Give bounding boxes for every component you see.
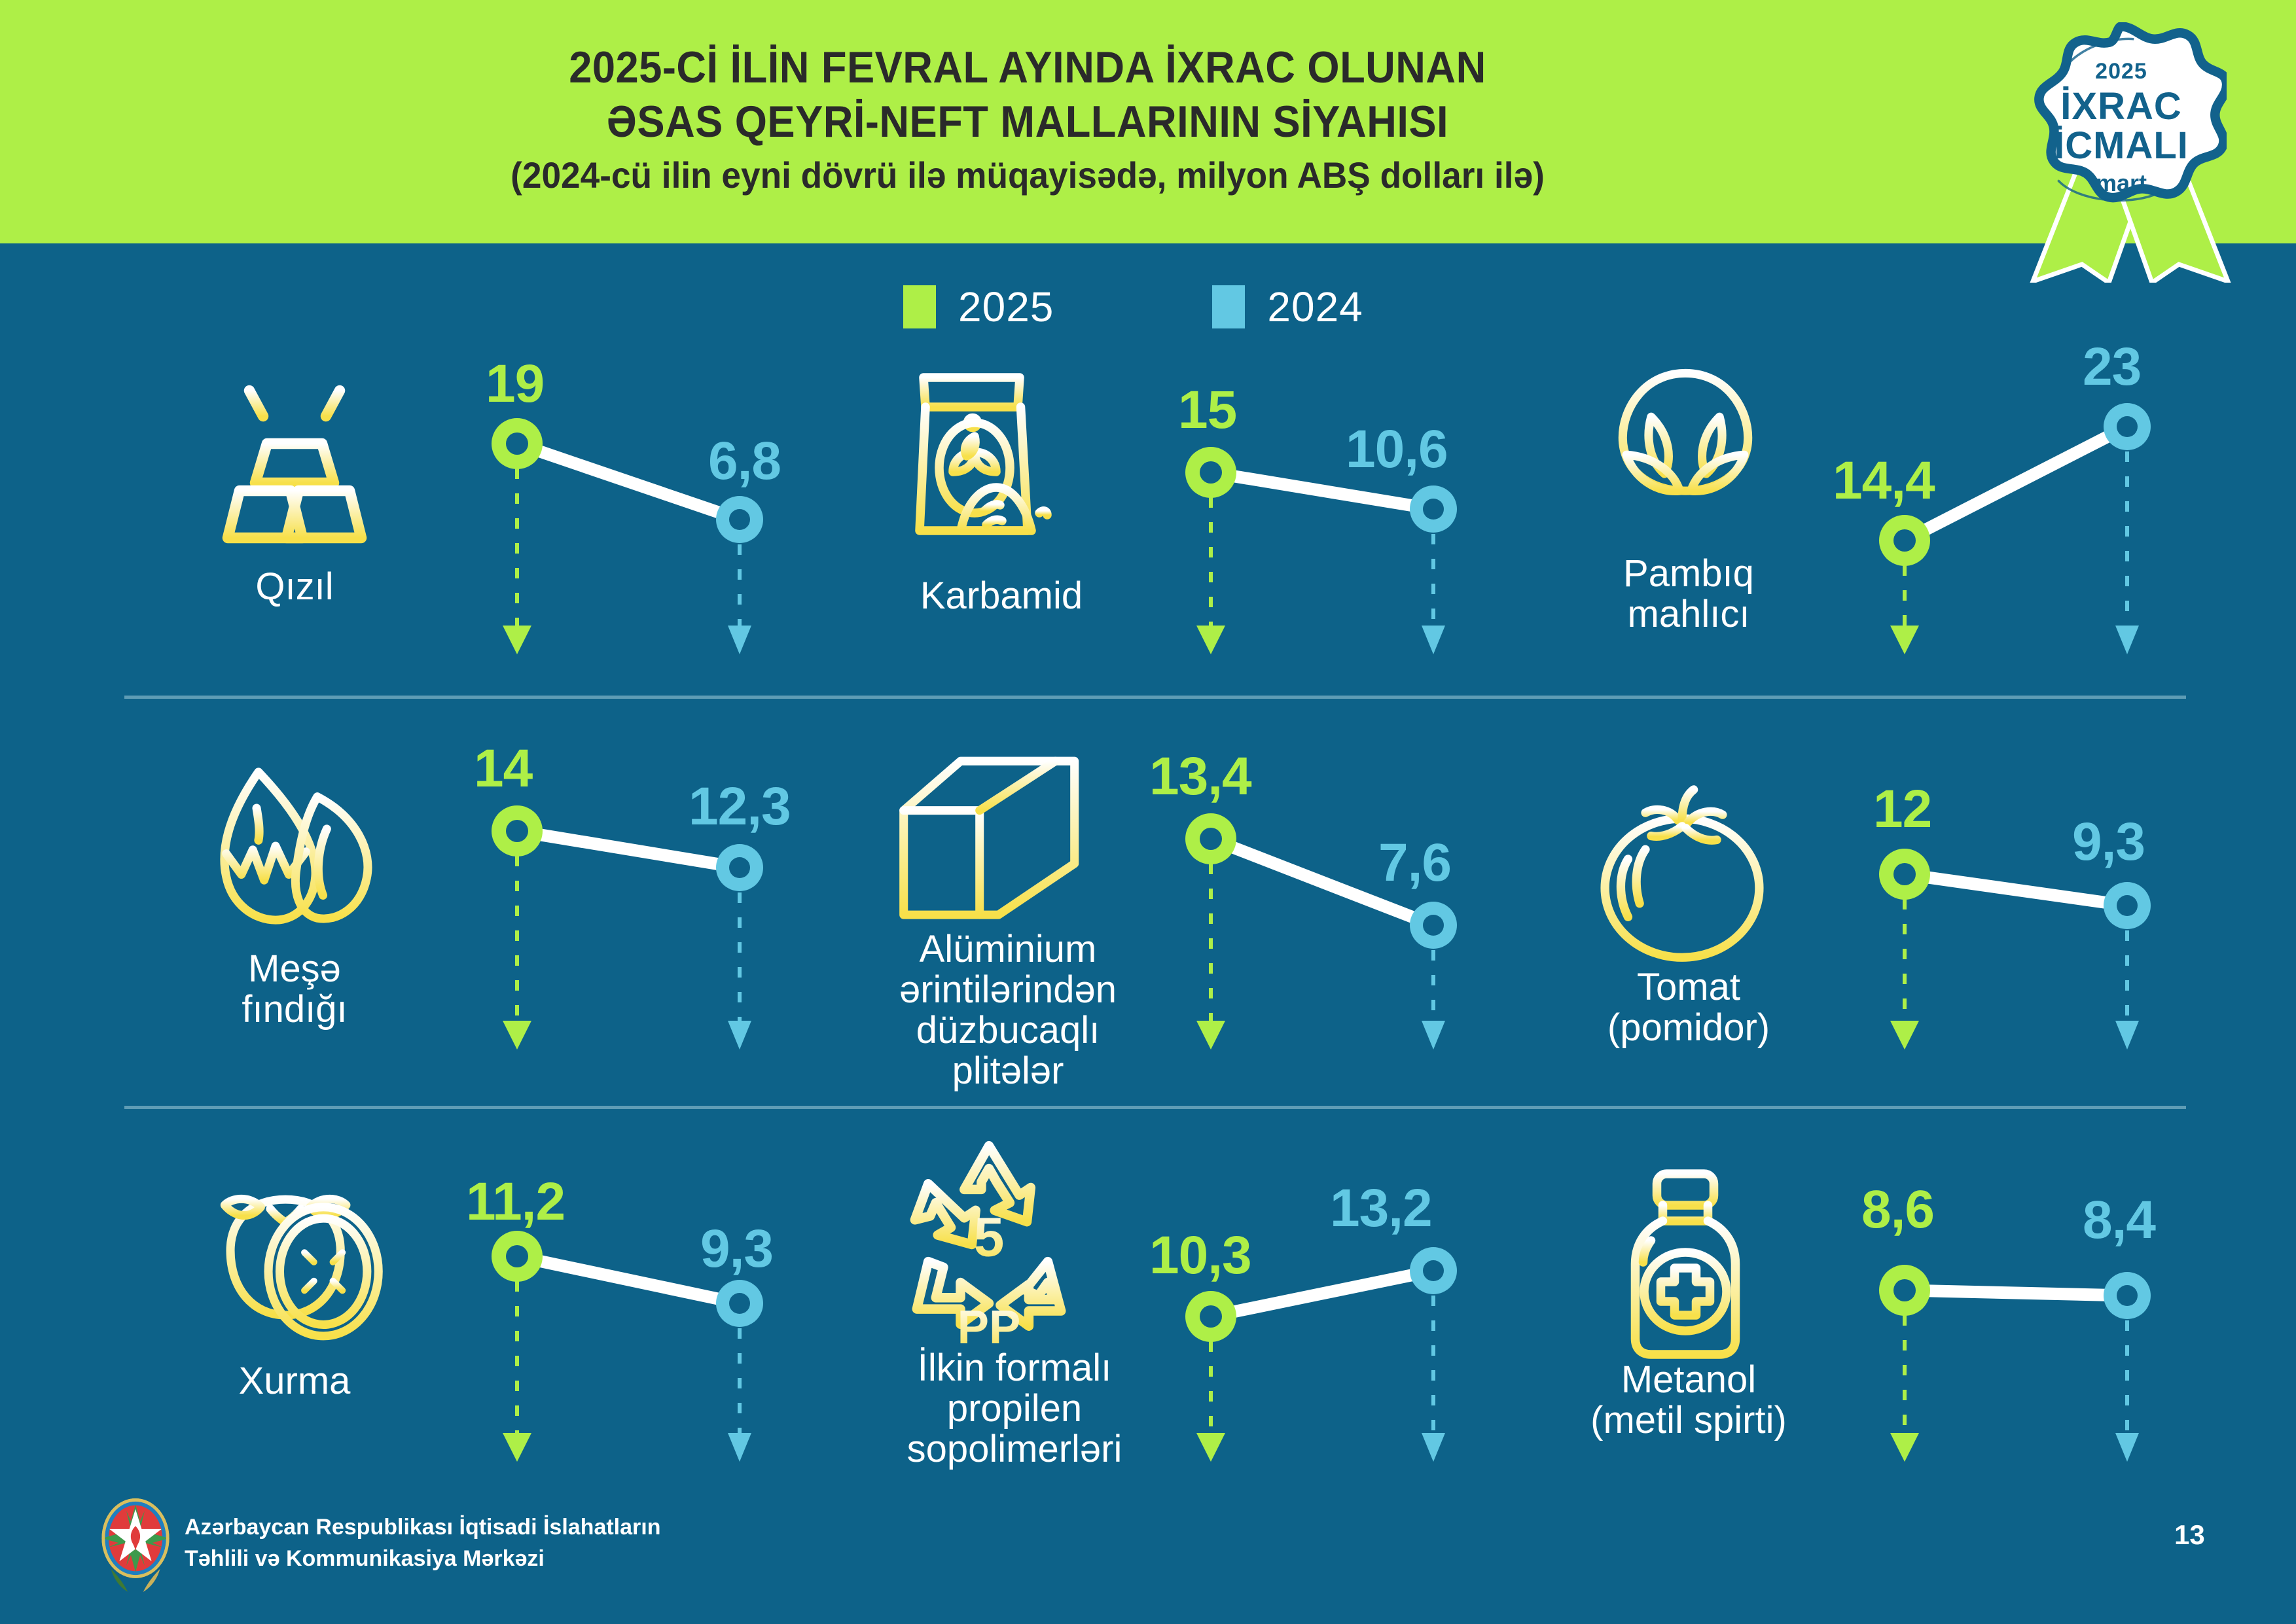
page-title-line2: ƏSAS QEYRİ-NEFT MALLARININ SİYAHISI — [72, 95, 1983, 149]
persimmon-icon — [196, 1163, 399, 1353]
value-2025-pambiq: 14,4 — [1833, 450, 1935, 512]
recycle-number: 5 — [974, 1206, 1005, 1267]
badge-month: mart — [2096, 171, 2147, 195]
legend-label-2025: 2025 — [958, 283, 1054, 331]
header-band: 2025-Cİ İLİN FEVRAL AYINDA İXRAC OLUNAN … — [0, 0, 2296, 243]
row-divider-1 — [124, 696, 2186, 699]
value-2025-xurma: 11,2 — [466, 1171, 565, 1233]
value-2024-findiq: 12,3 — [689, 776, 791, 838]
legend-label-2024: 2024 — [1267, 283, 1363, 331]
category-label-aluminium: Alüminium ərintilərindən düzbucaqlı plit… — [805, 929, 1211, 1091]
value-2025-findiq: 14 — [474, 738, 532, 800]
chemical-bottle-icon — [1610, 1166, 1761, 1362]
category-label-karbamid: Karbamid — [831, 576, 1172, 616]
recycle-pp-icon: 5 PP — [894, 1140, 1084, 1349]
header-title-block: 2025-Cİ İLİN FEVRAL AYINDA İXRAC OLUNAN … — [0, 41, 2055, 200]
organization-name: Azərbaycan Respublikası İqtisadi İslahat… — [185, 1511, 660, 1575]
value-2025-metanol: 8,6 — [1861, 1179, 1934, 1241]
value-2025-tomat: 12 — [1873, 779, 1931, 840]
legend-item-2025: 2025 — [903, 283, 1054, 331]
value-2024-karbamid: 10,6 — [1346, 419, 1448, 480]
category-label-pambiq: Pambıq mahlıcı — [1538, 554, 1839, 635]
tomato-icon — [1584, 784, 1780, 967]
category-label-findiq: Meşə fındığı — [118, 949, 471, 1030]
plot-propilen — [1152, 1171, 1505, 1472]
fertilizer-bag-icon — [890, 359, 1086, 561]
infographic-page: 2025-Cİ İLİN FEVRAL AYINDA İXRAC OLUNAN … — [0, 0, 2296, 1624]
gold-bars-icon — [196, 361, 393, 557]
badge-line2: İCMALI — [2054, 127, 2189, 165]
category-label-qizil: Qızıl — [118, 567, 471, 607]
page-subtitle: (2024-cü ilin eyni dövrü ilə müqayisədə,… — [52, 152, 2004, 200]
value-2024-tomat: 9,3 — [2072, 811, 2145, 873]
plot-pambiq — [1846, 364, 2199, 665]
badge-text-block: 2025 İXRAC İCMALI mart — [2016, 22, 2227, 233]
value-2024-pambiq: 23 — [2083, 336, 2141, 398]
legend-item-2024: 2024 — [1212, 283, 1363, 331]
value-2025-qizil: 19 — [486, 353, 544, 415]
page-title-line1: 2025-Cİ İLİN FEVRAL AYINDA İXRAC OLUNAN — [72, 41, 1983, 95]
category-label-tomat: Tomat (pomidor) — [1525, 967, 1852, 1048]
value-2024-metanol: 8,4 — [2083, 1190, 2155, 1251]
cotton-boll-icon — [1590, 359, 1780, 555]
page-number: 13 — [2174, 1519, 2205, 1551]
legend: 2025 2024 — [903, 283, 1363, 331]
row-divider-2 — [124, 1106, 2186, 1109]
azerbaijan-emblem-icon — [97, 1498, 174, 1597]
category-label-metanol: Metanol (metil spirti) — [1512, 1360, 1865, 1441]
export-review-badge: 2025 İXRAC İCMALI mart — [1994, 8, 2269, 283]
value-2025-karbamid: 15 — [1178, 380, 1236, 441]
org-line-1: Azərbaycan Respublikası İqtisadi İslahat… — [185, 1511, 660, 1543]
value-2024-xurma: 9,3 — [700, 1218, 773, 1280]
value-2024-aluminium: 7,6 — [1378, 832, 1451, 894]
category-label-xurma: Xurma — [118, 1361, 471, 1402]
value-2025-aluminium: 13,4 — [1149, 746, 1251, 807]
value-2024-qizil: 6,8 — [708, 431, 781, 492]
aluminium-slab-icon — [885, 746, 1101, 936]
org-line-2: Təhlili və Kommunikasiya Mərkəzi — [185, 1543, 660, 1574]
badge-year: 2025 — [2095, 60, 2147, 82]
value-2024-propilen: 13,2 — [1330, 1178, 1432, 1239]
recycle-pp-text: PP — [958, 1301, 1021, 1349]
hazelnut-icon — [196, 751, 393, 941]
badge-line1: İXRAC — [2060, 88, 2181, 126]
value-2025-propilen: 10,3 — [1149, 1225, 1251, 1286]
legend-swatch-blue — [1212, 285, 1245, 328]
legend-swatch-green — [903, 285, 936, 328]
